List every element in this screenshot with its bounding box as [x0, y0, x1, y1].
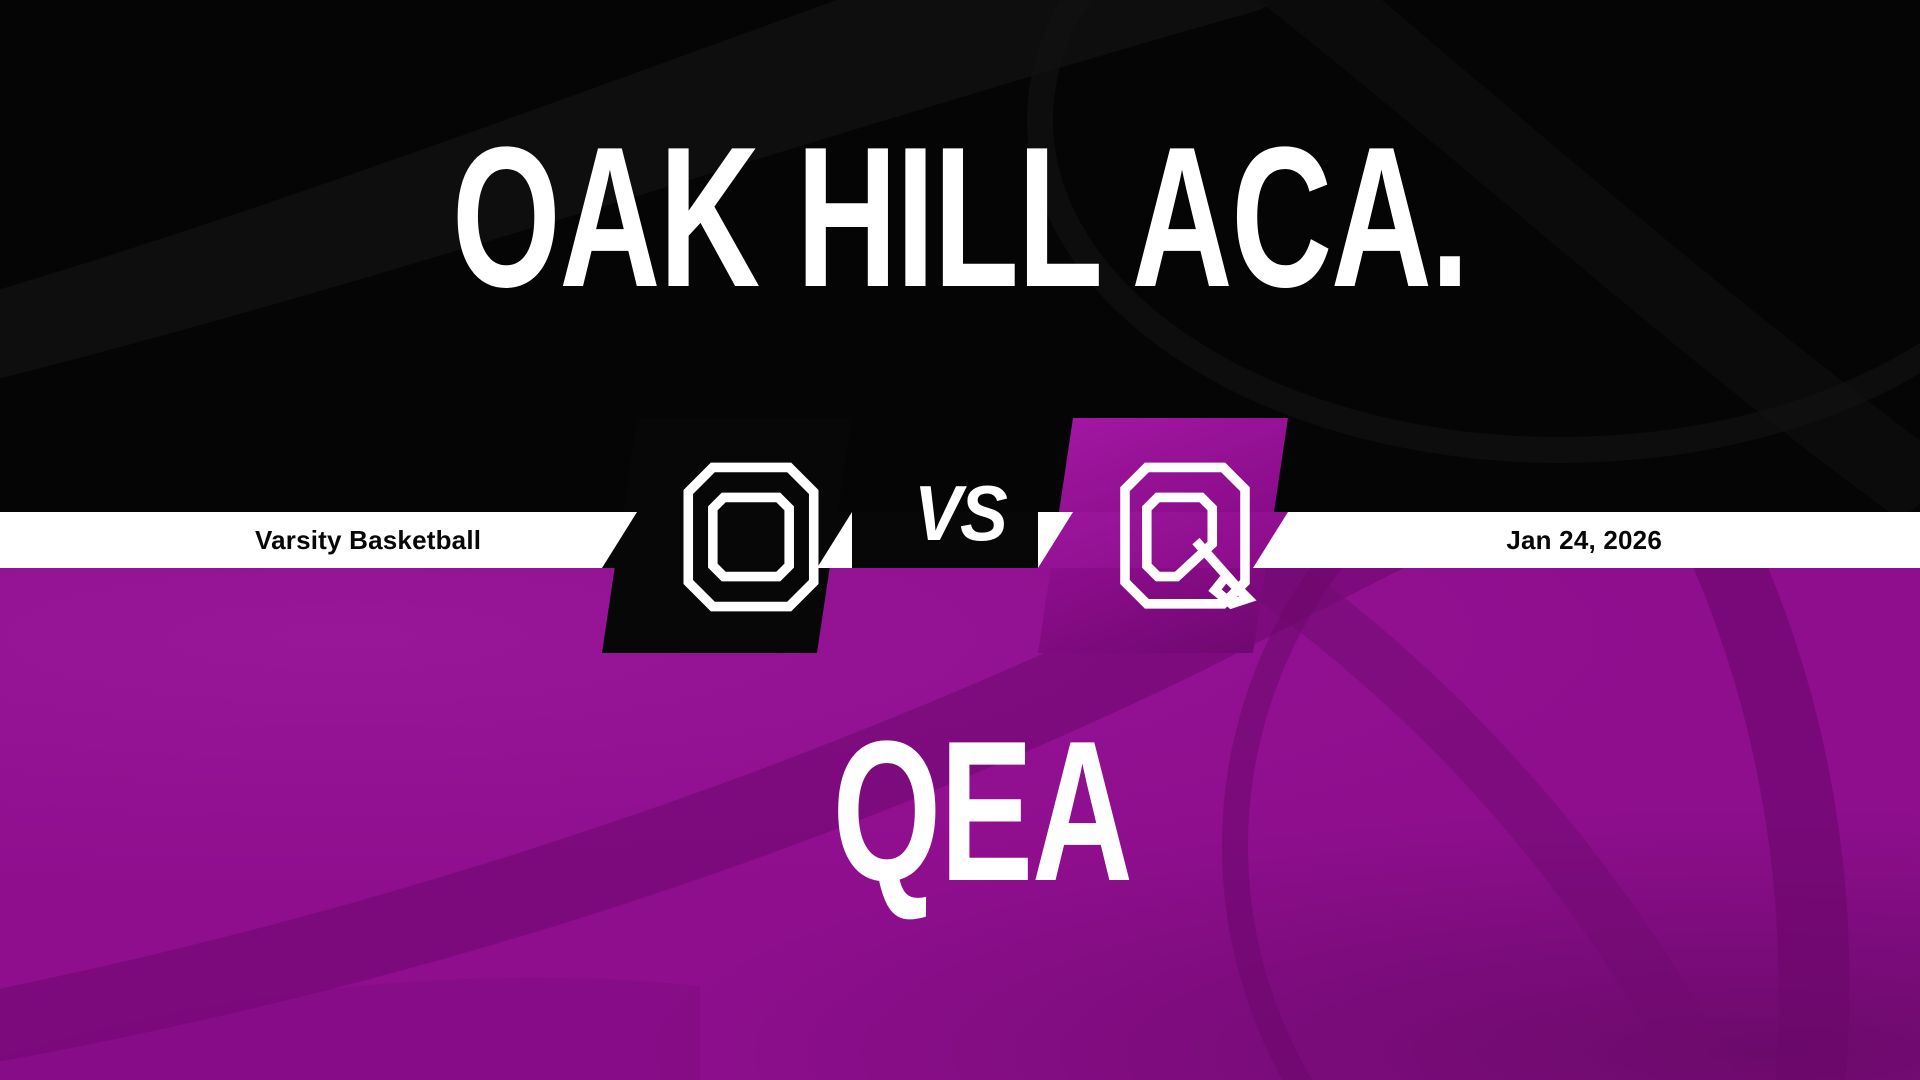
matchup-graphic: OAK HILL ACA. Varsity Basketball Jan 24,… [0, 0, 1920, 1080]
home-team-name: OAK HILL ACA. [288, 118, 1632, 318]
away-team-name: QEA [310, 712, 1654, 912]
versus-label: VS [77, 474, 1843, 552]
